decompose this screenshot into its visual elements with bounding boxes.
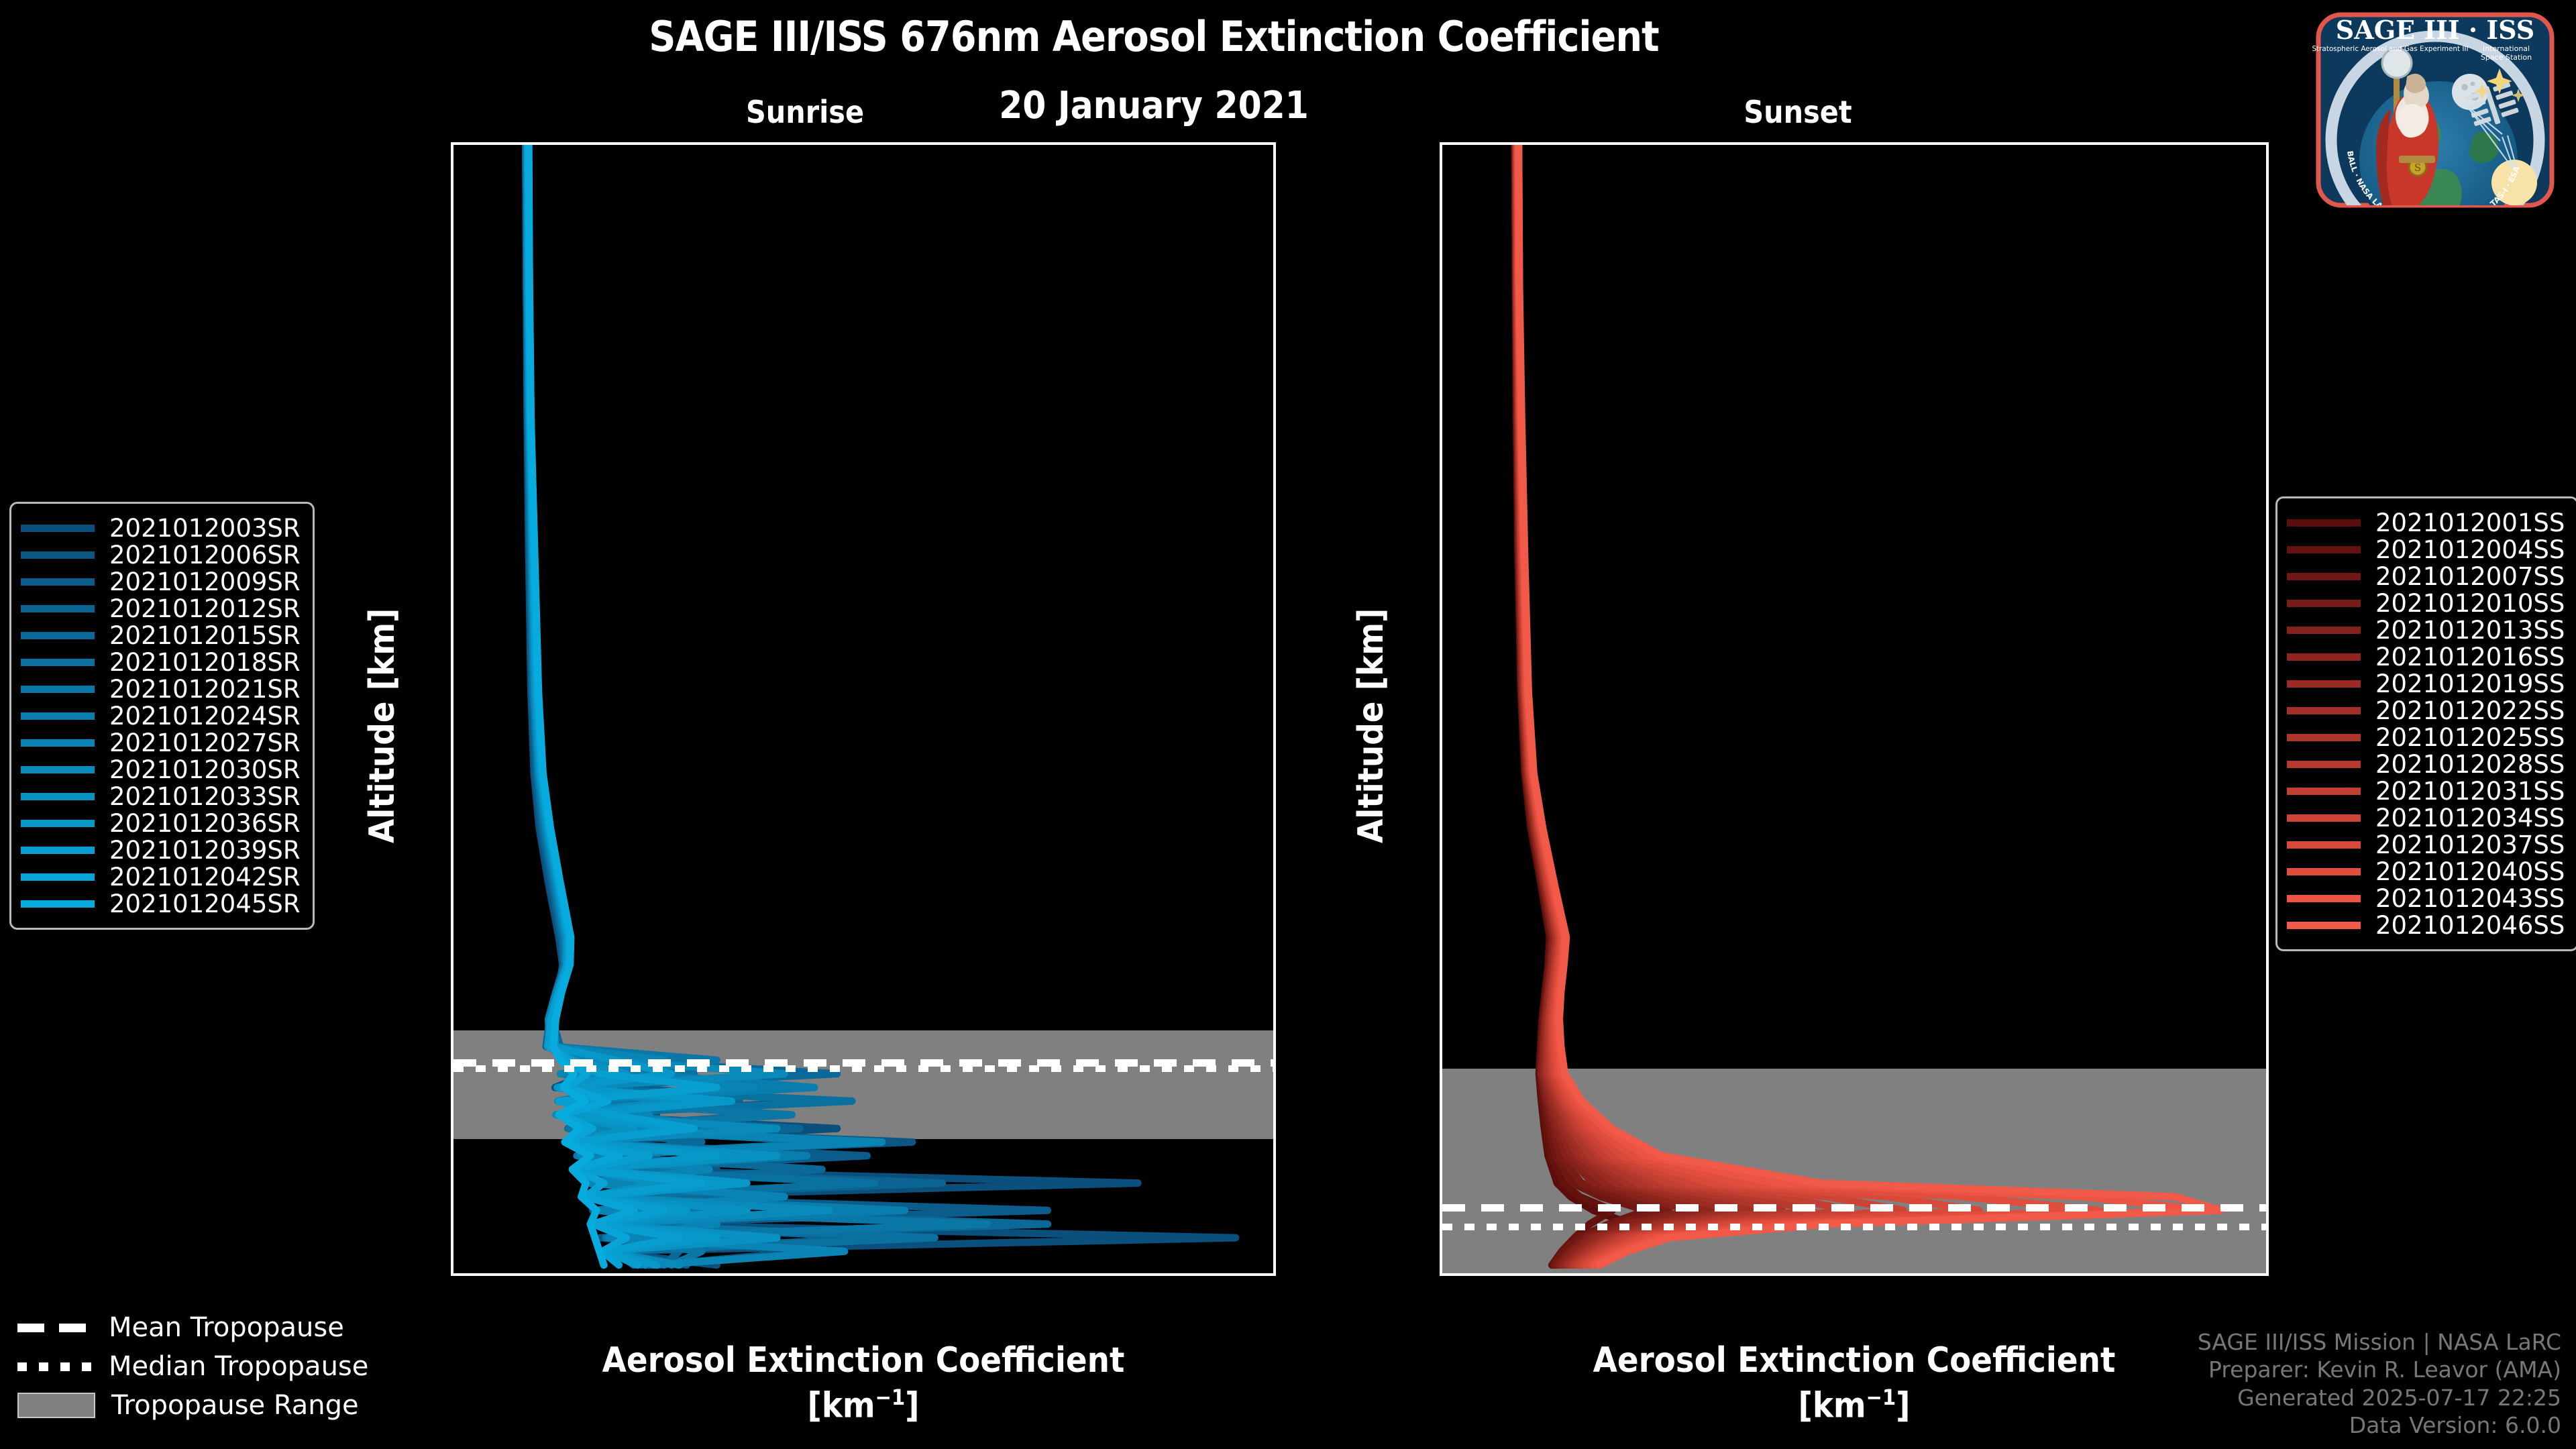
- line-swatch-icon: [2287, 734, 2361, 741]
- legend-entry-sunrise-item[interactable]: 2021012027SR: [21, 729, 301, 756]
- legend-entry-sunset-label: 2021012004SS: [2375, 535, 2565, 564]
- dashed-line-icon: [17, 1324, 93, 1332]
- legend-entry-sunrise-item[interactable]: 2021012006SR: [21, 541, 301, 568]
- line-swatch-icon: [2287, 627, 2361, 634]
- y-axis-tick: [1440, 826, 1442, 829]
- x-axis-tick: [2114, 1273, 2116, 1276]
- legend-entry-sunset-label: 2021012007SS: [2375, 562, 2565, 591]
- legend-entry-sunrise-label: 2021012006SR: [109, 541, 301, 570]
- legend-entry-sunset-label: 2021012001SS: [2375, 508, 2565, 537]
- line-swatch-icon: [21, 712, 95, 720]
- legend-entry-sunset-label: 2021012034SS: [2375, 804, 2565, 833]
- legend-entry-sunset-item[interactable]: 2021012013SS: [2287, 616, 2565, 643]
- x-axis-unit: [km−1]: [451, 1385, 1276, 1426]
- legend-entry-sunrise-item[interactable]: 2021012012SR: [21, 595, 301, 622]
- legend-entry-sunrise-item[interactable]: 2021012036SR: [21, 810, 301, 837]
- legend-entry-sunset-label: 2021012016SS: [2375, 643, 2565, 672]
- logo-subtitle-right-2: Space Station: [2481, 53, 2532, 62]
- legend-sunrise[interactable]: 2021012003SR2021012006SR2021012009SR2021…: [9, 502, 315, 930]
- logo-subtitle-right-1: International: [2483, 44, 2530, 53]
- legend-entry-sunset-label: 2021012013SS: [2375, 616, 2565, 645]
- legend-label-median-tropopause: Median Tropopause: [109, 1351, 368, 1382]
- x-axis-tick: [1122, 1273, 1124, 1276]
- legend-entry-sunrise-item[interactable]: 2021012021SR: [21, 676, 301, 702]
- y-axis-tick: [451, 826, 453, 829]
- line-swatch-icon: [21, 739, 95, 747]
- y-axis-tick: [451, 1099, 453, 1102]
- legend-entry-sunrise-label: 2021012009SR: [109, 568, 301, 596]
- line-swatch-icon: [21, 766, 95, 773]
- y-axis-title-sunrise: Altitude [km]: [362, 608, 402, 843]
- x-axis-title-sunrise: Aerosol Extinction Coefficient [km−1]: [451, 1340, 1276, 1426]
- legend-entry-sunrise-item[interactable]: 2021012024SR: [21, 702, 301, 729]
- profile-lines: [453, 145, 1273, 1273]
- credits-line-version: Data Version: 6.0.0: [2198, 1411, 2561, 1440]
- plot-area-sunset: [1442, 145, 2266, 1273]
- line-swatch-icon: [2287, 895, 2361, 902]
- legend-entry-sunset-label: 2021012037SS: [2375, 830, 2565, 859]
- line-swatch-icon: [21, 659, 95, 666]
- line-swatch-icon: [21, 847, 95, 854]
- legend-entry-sunset-label: 2021012043SS: [2375, 884, 2565, 913]
- legend-entry-sunrise-item[interactable]: 2021012045SR: [21, 890, 301, 917]
- credits-line-generated: Generated 2025-07-17 22:25: [2198, 1384, 2561, 1412]
- x-axis-tick: [1660, 1273, 1663, 1276]
- line-swatch-icon: [21, 578, 95, 586]
- legend-tropopause: Mean Tropopause Median Tropopause Tropop…: [17, 1308, 368, 1425]
- legend-entry-sunrise-label: 2021012030SR: [109, 755, 301, 784]
- legend-entry-sunset-item[interactable]: 2021012010SS: [2287, 590, 2565, 616]
- y-axis-tick: [451, 417, 453, 419]
- legend-entry-sunrise-label: 2021012012SR: [109, 594, 301, 623]
- legend-sunset[interactable]: 2021012001SS2021012004SS2021012007SS2021…: [2275, 496, 2576, 951]
- profile-line: [1516, 145, 1737, 1265]
- logo-subtitle-left: Stratospheric Aerosol and Gas Experiment…: [2312, 45, 2468, 53]
- line-swatch-icon: [2287, 814, 2361, 822]
- median-tropopause-line: [453, 1065, 1273, 1072]
- y-axis-tick: [1440, 553, 1442, 556]
- legend-item-median-tropopause: Median Tropopause: [17, 1347, 368, 1386]
- y-axis-title-sunset: Altitude [km]: [1351, 608, 1391, 843]
- legend-entry-sunset-item[interactable]: 2021012025SS: [2287, 724, 2565, 751]
- credits-line-preparer: Preparer: Kevin R. Leavor (AMA): [2198, 1356, 2561, 1384]
- legend-entry-sunset-item[interactable]: 2021012004SS: [2287, 536, 2565, 563]
- legend-entry-sunrise-label: 2021012003SR: [109, 514, 301, 543]
- profile-lines: [1442, 145, 2266, 1273]
- line-swatch-icon: [21, 820, 95, 827]
- line-swatch-icon: [2287, 788, 2361, 795]
- line-swatch-icon: [2287, 519, 2361, 527]
- x-axis-unit: [km−1]: [1440, 1385, 2269, 1426]
- line-swatch-icon: [2287, 922, 2361, 929]
- legend-label-tropopause-range: Tropopause Range: [111, 1390, 359, 1421]
- x-axis-title-text: Aerosol Extinction Coefficient: [602, 1340, 1125, 1381]
- legend-entry-sunset-label: 2021012046SS: [2375, 911, 2565, 940]
- y-axis-tick: [1440, 417, 1442, 419]
- legend-entry-sunset-label: 2021012025SS: [2375, 723, 2565, 752]
- legend-entry-sunset-item[interactable]: 2021012040SS: [2287, 858, 2565, 885]
- x-axis-tick: [670, 1273, 673, 1276]
- legend-entry-sunrise-item[interactable]: 2021012039SR: [21, 837, 301, 863]
- legend-entry-sunrise-label: 2021012024SR: [109, 702, 301, 731]
- y-axis-tick: [451, 963, 453, 966]
- legend-entry-sunset-item[interactable]: 2021012016SS: [2287, 643, 2565, 670]
- legend-entry-sunrise-label: 2021012033SR: [109, 782, 301, 811]
- y-axis-tick: [1440, 963, 1442, 966]
- y-axis-tick: [1440, 1236, 1442, 1239]
- profile-line: [1519, 145, 2206, 1265]
- legend-entry-sunrise-label: 2021012018SR: [109, 648, 301, 677]
- legend-entry-sunset-label: 2021012040SS: [2375, 857, 2565, 886]
- x-axis-title-sunset: Aerosol Extinction Coefficient [km−1]: [1440, 1340, 2269, 1426]
- x-axis-tick: [2265, 1273, 2267, 1276]
- page-title: SAGE III/ISS 676nm Aerosol Extinction Co…: [0, 12, 2308, 61]
- line-swatch-icon: [2287, 573, 2361, 580]
- line-swatch-icon: [2287, 680, 2361, 688]
- x-axis-title-text: Aerosol Extinction Coefficient: [1593, 1340, 2116, 1381]
- legend-entry-sunrise-item[interactable]: 2021012033SR: [21, 783, 301, 810]
- legend-entry-sunset-item[interactable]: 2021012046SS: [2287, 912, 2565, 938]
- legend-entry-sunrise-label: 2021012036SR: [109, 809, 301, 838]
- legend-item-mean-tropopause: Mean Tropopause: [17, 1308, 368, 1347]
- credits-line-mission: SAGE III/ISS Mission | NASA LaRC: [2198, 1328, 2561, 1356]
- legend-entry-sunset-item[interactable]: 2021012007SS: [2287, 563, 2565, 590]
- legend-entry-sunrise-item[interactable]: 2021012018SR: [21, 649, 301, 676]
- legend-entry-sunrise-label: 2021012045SR: [109, 890, 301, 918]
- profile-line: [1518, 145, 1979, 1265]
- panel-label-sunset: Sunset: [1610, 94, 1986, 130]
- x-axis-tick: [1272, 1273, 1275, 1276]
- y-axis-tick: [1440, 1099, 1442, 1102]
- x-axis-tick: [1962, 1273, 1965, 1276]
- legend-entry-sunset-item[interactable]: 2021012031SS: [2287, 777, 2565, 804]
- profile-line: [1519, 145, 2221, 1265]
- y-axis-tick: [1440, 280, 1442, 283]
- legend-entry-sunset-label: 2021012028SS: [2375, 750, 2565, 779]
- line-swatch-icon: [2287, 707, 2361, 714]
- line-swatch-icon: [21, 686, 95, 693]
- line-swatch-icon: [21, 551, 95, 559]
- y-axis-tick: [451, 1236, 453, 1239]
- legend-entry-sunset-item[interactable]: 2021012022SS: [2287, 697, 2565, 724]
- legend-label-mean-tropopause: Mean Tropopause: [109, 1312, 344, 1343]
- y-axis-tick: [451, 144, 453, 146]
- plot-area-sunrise: [453, 145, 1273, 1273]
- x-axis-tick: [1509, 1273, 1511, 1276]
- legend-entry-sunset-item[interactable]: 2021012034SS: [2287, 804, 2565, 831]
- sage-iii-iss-mission-patch-logo: S BALL · NASA LANGLEY RESEARCH CENTER · …: [2301, 3, 2569, 217]
- legend-entry-sunset-item[interactable]: 2021012043SS: [2287, 885, 2565, 912]
- legend-entry-sunrise-item[interactable]: 2021012003SR: [21, 515, 301, 541]
- median-tropopause-line: [1442, 1224, 2266, 1230]
- line-swatch-icon: [21, 525, 95, 532]
- y-axis-tick: [451, 553, 453, 556]
- dotted-line-icon: [17, 1362, 93, 1371]
- filled-band-icon: [17, 1393, 95, 1418]
- line-swatch-icon: [21, 605, 95, 612]
- mission-patch-svg: S BALL · NASA LANGLEY RESEARCH CENTER · …: [2301, 3, 2569, 217]
- legend-entry-sunset-item[interactable]: 2021012001SS: [2287, 509, 2565, 536]
- plot-panel-sunset: 5045403530252015100.0000.0020.0040.0060.…: [1440, 142, 2269, 1276]
- mean-tropopause-line: [1442, 1204, 2266, 1212]
- x-axis-tick: [1811, 1273, 1814, 1276]
- legend-entry-sunrise-item[interactable]: 2021012042SR: [21, 863, 301, 890]
- panel-label-sunrise: Sunrise: [617, 94, 993, 130]
- line-swatch-icon: [21, 632, 95, 639]
- legend-entry-sunrise-item[interactable]: 2021012030SR: [21, 756, 301, 783]
- legend-item-tropopause-range: Tropopause Range: [17, 1386, 368, 1425]
- legend-entry-sunrise-label: 2021012021SR: [109, 675, 301, 704]
- line-swatch-icon: [2287, 868, 2361, 875]
- plot-panel-sunrise: 5045403530252015100.0000.0020.0040.0060.…: [451, 142, 1276, 1276]
- line-swatch-icon: [2287, 761, 2361, 768]
- line-swatch-icon: [21, 793, 95, 800]
- credits-block: SAGE III/ISS Mission | NASA LaRC Prepare…: [2198, 1328, 2561, 1440]
- line-swatch-icon: [2287, 653, 2361, 661]
- legend-entry-sunset-label: 2021012010SS: [2375, 589, 2565, 618]
- line-swatch-icon: [21, 873, 95, 881]
- y-axis-tick: [1440, 144, 1442, 146]
- x-axis-tick: [520, 1273, 523, 1276]
- legend-entry-sunrise-label: 2021012039SR: [109, 836, 301, 865]
- profile-line: [1518, 145, 2100, 1265]
- legend-entry-sunset-label: 2021012022SS: [2375, 696, 2565, 725]
- legend-entry-sunrise-label: 2021012015SR: [109, 621, 301, 650]
- legend-entry-sunrise-item[interactable]: 2021012015SR: [21, 622, 301, 649]
- svg-text:S: S: [2414, 162, 2421, 174]
- legend-entry-sunset-item[interactable]: 2021012019SS: [2287, 670, 2565, 697]
- x-axis-tick: [820, 1273, 823, 1276]
- y-axis-tick: [451, 690, 453, 693]
- line-swatch-icon: [2287, 600, 2361, 607]
- y-axis-tick: [451, 280, 453, 283]
- legend-entry-sunrise-item[interactable]: 2021012009SR: [21, 568, 301, 595]
- legend-entry-sunset-label: 2021012031SS: [2375, 777, 2565, 806]
- legend-entry-sunrise-label: 2021012042SR: [109, 863, 301, 892]
- line-swatch-icon: [21, 900, 95, 908]
- x-axis-tick: [971, 1273, 974, 1276]
- legend-entry-sunset-item[interactable]: 2021012037SS: [2287, 831, 2565, 858]
- y-axis-tick: [1440, 690, 1442, 693]
- legend-entry-sunrise-label: 2021012027SR: [109, 729, 301, 757]
- line-swatch-icon: [2287, 546, 2361, 553]
- line-swatch-icon: [2287, 841, 2361, 849]
- legend-entry-sunset-label: 2021012019SS: [2375, 669, 2565, 698]
- legend-entry-sunset-item[interactable]: 2021012028SS: [2287, 751, 2565, 777]
- logo-title-main: SAGE III · ISS: [2336, 15, 2534, 45]
